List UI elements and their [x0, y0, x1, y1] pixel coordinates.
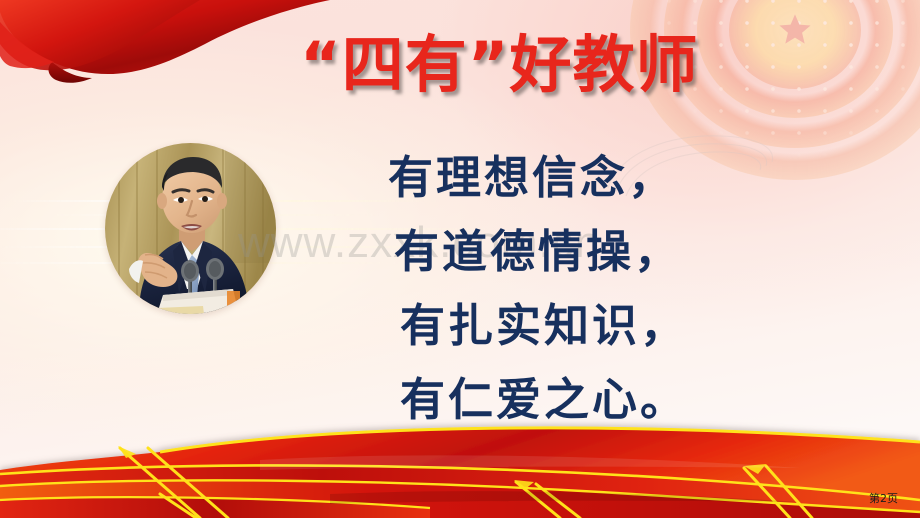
page-number: 第2页	[869, 490, 898, 506]
ceiling-ring-3	[664, 0, 920, 148]
ceiling-ring-inner	[729, 0, 861, 89]
star-icon	[775, 10, 815, 50]
slide-title: “四有”好教师	[300, 32, 700, 97]
slide-body: 有理想信念， 有道德情操， 有扎实知识， 有仁爱之心。	[388, 140, 868, 436]
slide-canvas: “四有”好教师 www.zxxk.com.cn 有理想信念， 有道德情操， 有扎…	[0, 0, 920, 518]
body-line-1: 有理想信念，	[388, 140, 868, 214]
portrait-image	[105, 143, 276, 314]
ceiling-ring-2	[697, 0, 893, 118]
body-line-3: 有扎实知识，	[388, 288, 868, 362]
body-line-4: 有仁爱之心。	[388, 362, 868, 436]
top-left-red-ribbon	[0, 0, 330, 140]
portrait-photo	[105, 143, 276, 314]
body-line-2: 有道德情操，	[388, 214, 868, 288]
